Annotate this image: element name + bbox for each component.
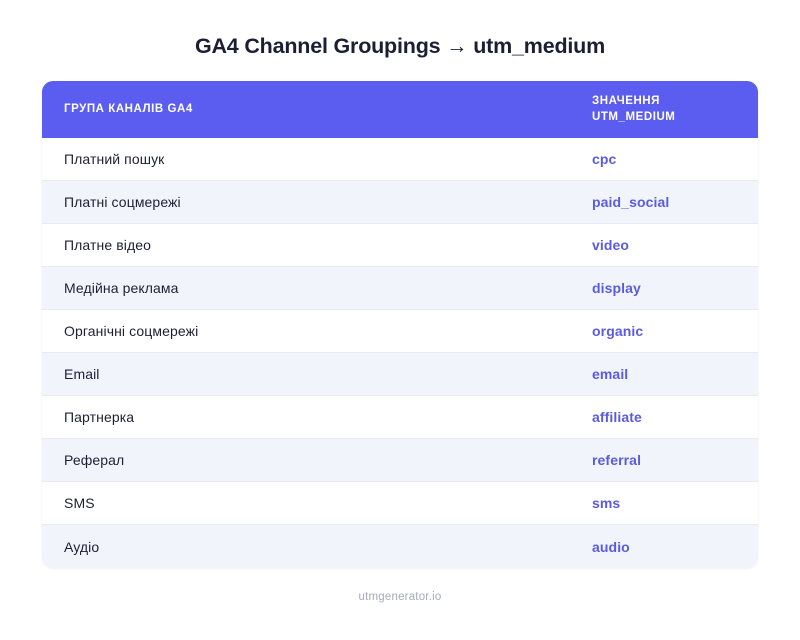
cell-utm-medium: organic [578,323,758,339]
page-title: GA4 Channel Groupings → utm_medium [0,0,800,60]
table-header-channel-group-label: ГРУПА КАНАЛІВ GA4 [64,102,578,117]
table-row: Реферал referral [42,439,758,482]
table-row: Email email [42,353,758,396]
cell-utm-medium: paid_social [578,194,758,210]
cell-utm-medium: audio [578,539,758,555]
page-root: GA4 Channel Groupings → utm_medium ГРУПА… [0,0,800,640]
cell-channel-group: Реферал [42,452,578,468]
table-header-utm-medium-label-line2: UTM_MEDIUM [592,110,758,125]
table-row: Платне відео video [42,224,758,267]
cell-utm-medium: affiliate [578,409,758,425]
table-body: Платний пошук cpc Платні соцмережі paid_… [42,138,758,568]
cell-channel-group: SMS [42,495,578,511]
table-row: Медійна реклама display [42,267,758,310]
cell-utm-medium: display [578,280,758,296]
table-header-utm-medium-label-line1: ЗНАЧЕННЯ [592,94,758,109]
table-header-row: ГРУПА КАНАЛІВ GA4 ЗНАЧЕННЯ UTM_MEDIUM [42,81,758,138]
cell-channel-group: Платний пошук [42,151,578,167]
footer-attribution: utmgenerator.io [0,591,800,603]
cell-utm-medium: video [578,237,758,253]
cell-utm-medium: referral [578,452,758,468]
cell-utm-medium: sms [578,495,758,511]
cell-utm-medium: email [578,366,758,382]
table-row: Аудіо audio [42,525,758,568]
cell-channel-group: Органічні соцмережі [42,323,578,339]
cell-channel-group: Медійна реклама [42,280,578,296]
table-row: Органічні соцмережі organic [42,310,758,353]
cell-channel-group: Email [42,366,578,382]
table-header-channel-group: ГРУПА КАНАЛІВ GA4 [42,102,578,117]
table-row: Платний пошук cpc [42,138,758,181]
table-row: SMS sms [42,482,758,525]
table-row: Платні соцмережі paid_social [42,181,758,224]
cell-channel-group: Аудіо [42,539,578,555]
cell-channel-group: Платні соцмережі [42,194,578,210]
table-row: Партнерка affiliate [42,396,758,439]
channel-groupings-table: ГРУПА КАНАЛІВ GA4 ЗНАЧЕННЯ UTM_MEDIUM Пл… [42,81,758,568]
cell-channel-group: Платне відео [42,237,578,253]
cell-channel-group: Партнерка [42,409,578,425]
cell-utm-medium: cpc [578,151,758,167]
table-header-utm-medium: ЗНАЧЕННЯ UTM_MEDIUM [578,94,758,124]
